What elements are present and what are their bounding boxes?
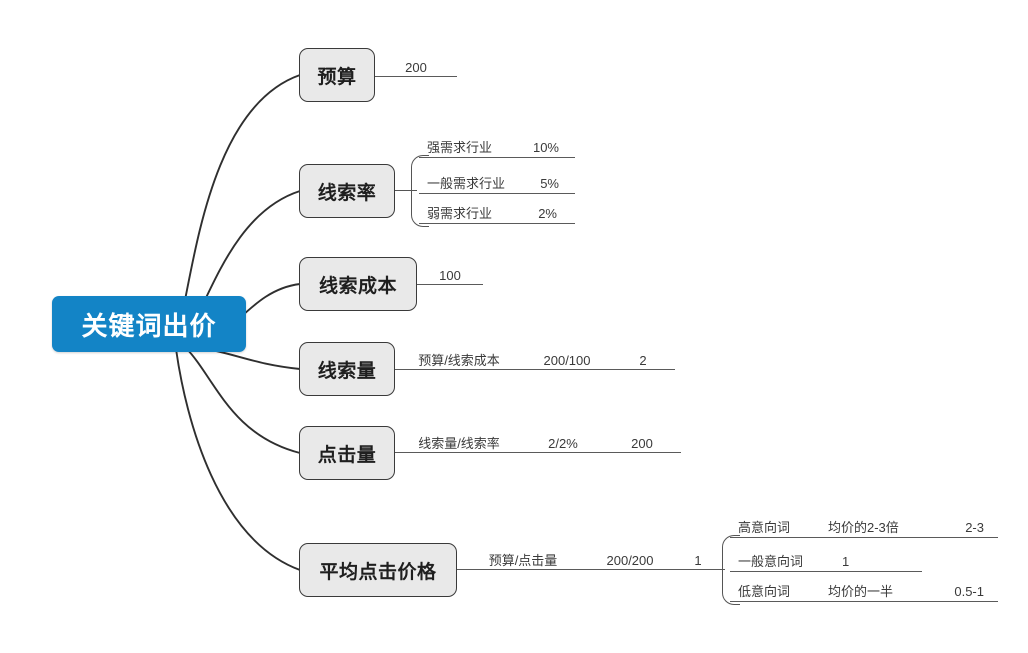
leaf-click-volume-calc: 2/2%	[523, 429, 603, 453]
leaf-text: 200/100	[544, 354, 591, 367]
branch-node-lead-volume[interactable]: 线索量	[299, 342, 395, 396]
subitem-value: 均价的一半	[828, 585, 893, 598]
subitem-value: 1	[842, 555, 849, 568]
subitem-label: 高意向词	[738, 521, 790, 534]
subitem-label: 一般需求行业	[427, 177, 505, 190]
leaf-text: 线索量/线索率	[418, 437, 500, 450]
leaf-text: 1	[694, 554, 701, 567]
subitem-lead-rate-normal[interactable]: 一般需求行业 5%	[419, 168, 575, 194]
branch-node-avg-cpc[interactable]: 平均点击价格	[299, 543, 457, 597]
subitem-label: 强需求行业	[427, 141, 492, 154]
branch-node-click-volume[interactable]: 点击量	[299, 426, 395, 480]
subitem-avg-cpc-high[interactable]: 高意向词 均价的2-3倍 2-3	[730, 512, 998, 538]
branch-label-avg-cpc: 平均点击价格	[319, 557, 436, 584]
mindmap-canvas: 关键词出价 预算 200 线索率 强需求行业 10% 一般需求行业 5% 弱需求…	[0, 0, 1028, 653]
subitem-label: 一般意向词	[738, 555, 803, 568]
leaf-lead-cost-value: 100	[417, 261, 483, 285]
subitem-label: 弱需求行业	[427, 207, 492, 220]
branch-node-budget[interactable]: 预算	[299, 48, 375, 102]
leaf-text: 200	[631, 437, 653, 450]
leaf-click-volume-formula: 线索量/线索率	[395, 429, 523, 453]
subitem-value: 2%	[538, 207, 557, 220]
leaf-avg-cpc-calc: 200/200	[589, 546, 671, 570]
edge-to-click-volume	[186, 348, 300, 453]
subitem-value: 10%	[533, 141, 559, 154]
leaf-avg-cpc-result: 1	[671, 546, 725, 570]
subitem-value-range: 2-3	[965, 521, 984, 534]
stub-lead-rate	[395, 190, 417, 191]
subitem-label: 低意向词	[738, 585, 790, 598]
leaf-text: 100	[439, 269, 461, 282]
branch-label-lead-rate: 线索率	[318, 178, 377, 205]
subitem-value: 均价的2-3倍	[828, 521, 899, 534]
leaf-text: 2/2%	[548, 437, 578, 450]
leaf-lead-volume-calc: 200/100	[523, 346, 611, 370]
subitem-lead-rate-strong[interactable]: 强需求行业 10%	[419, 132, 575, 158]
leaf-text: 2	[639, 354, 646, 367]
subitem-value: 5%	[540, 177, 559, 190]
leaf-avg-cpc-formula: 预算/点击量	[457, 546, 589, 570]
leaf-text: 200/200	[607, 554, 654, 567]
subitem-avg-cpc-low[interactable]: 低意向词 均价的一半 0.5-1	[730, 576, 998, 602]
subitem-value-range: 0.5-1	[954, 585, 984, 598]
branch-node-lead-rate[interactable]: 线索率	[299, 164, 395, 218]
branch-label-click-volume: 点击量	[318, 440, 377, 467]
edge-to-avg-cpc	[176, 349, 300, 570]
branch-label-lead-cost: 线索成本	[319, 271, 397, 298]
leaf-lead-volume-formula: 预算/线索成本	[395, 346, 523, 370]
subitem-lead-rate-weak[interactable]: 弱需求行业 2%	[419, 198, 575, 224]
leaf-text: 200	[405, 61, 427, 74]
root-node-label: 关键词出价	[81, 306, 216, 343]
root-node[interactable]: 关键词出价	[52, 296, 246, 352]
branch-node-lead-cost[interactable]: 线索成本	[299, 257, 417, 311]
leaf-lead-volume-result: 2	[611, 346, 675, 370]
leaf-click-volume-result: 200	[603, 429, 681, 453]
subitem-avg-cpc-normal[interactable]: 一般意向词 1	[730, 546, 922, 572]
leaf-text: 预算/线索成本	[418, 354, 500, 367]
leaf-text: 预算/点击量	[489, 554, 558, 567]
branch-label-lead-volume: 线索量	[318, 356, 377, 383]
branch-label-budget: 预算	[317, 62, 356, 89]
leaf-budget-value: 200	[375, 53, 457, 77]
